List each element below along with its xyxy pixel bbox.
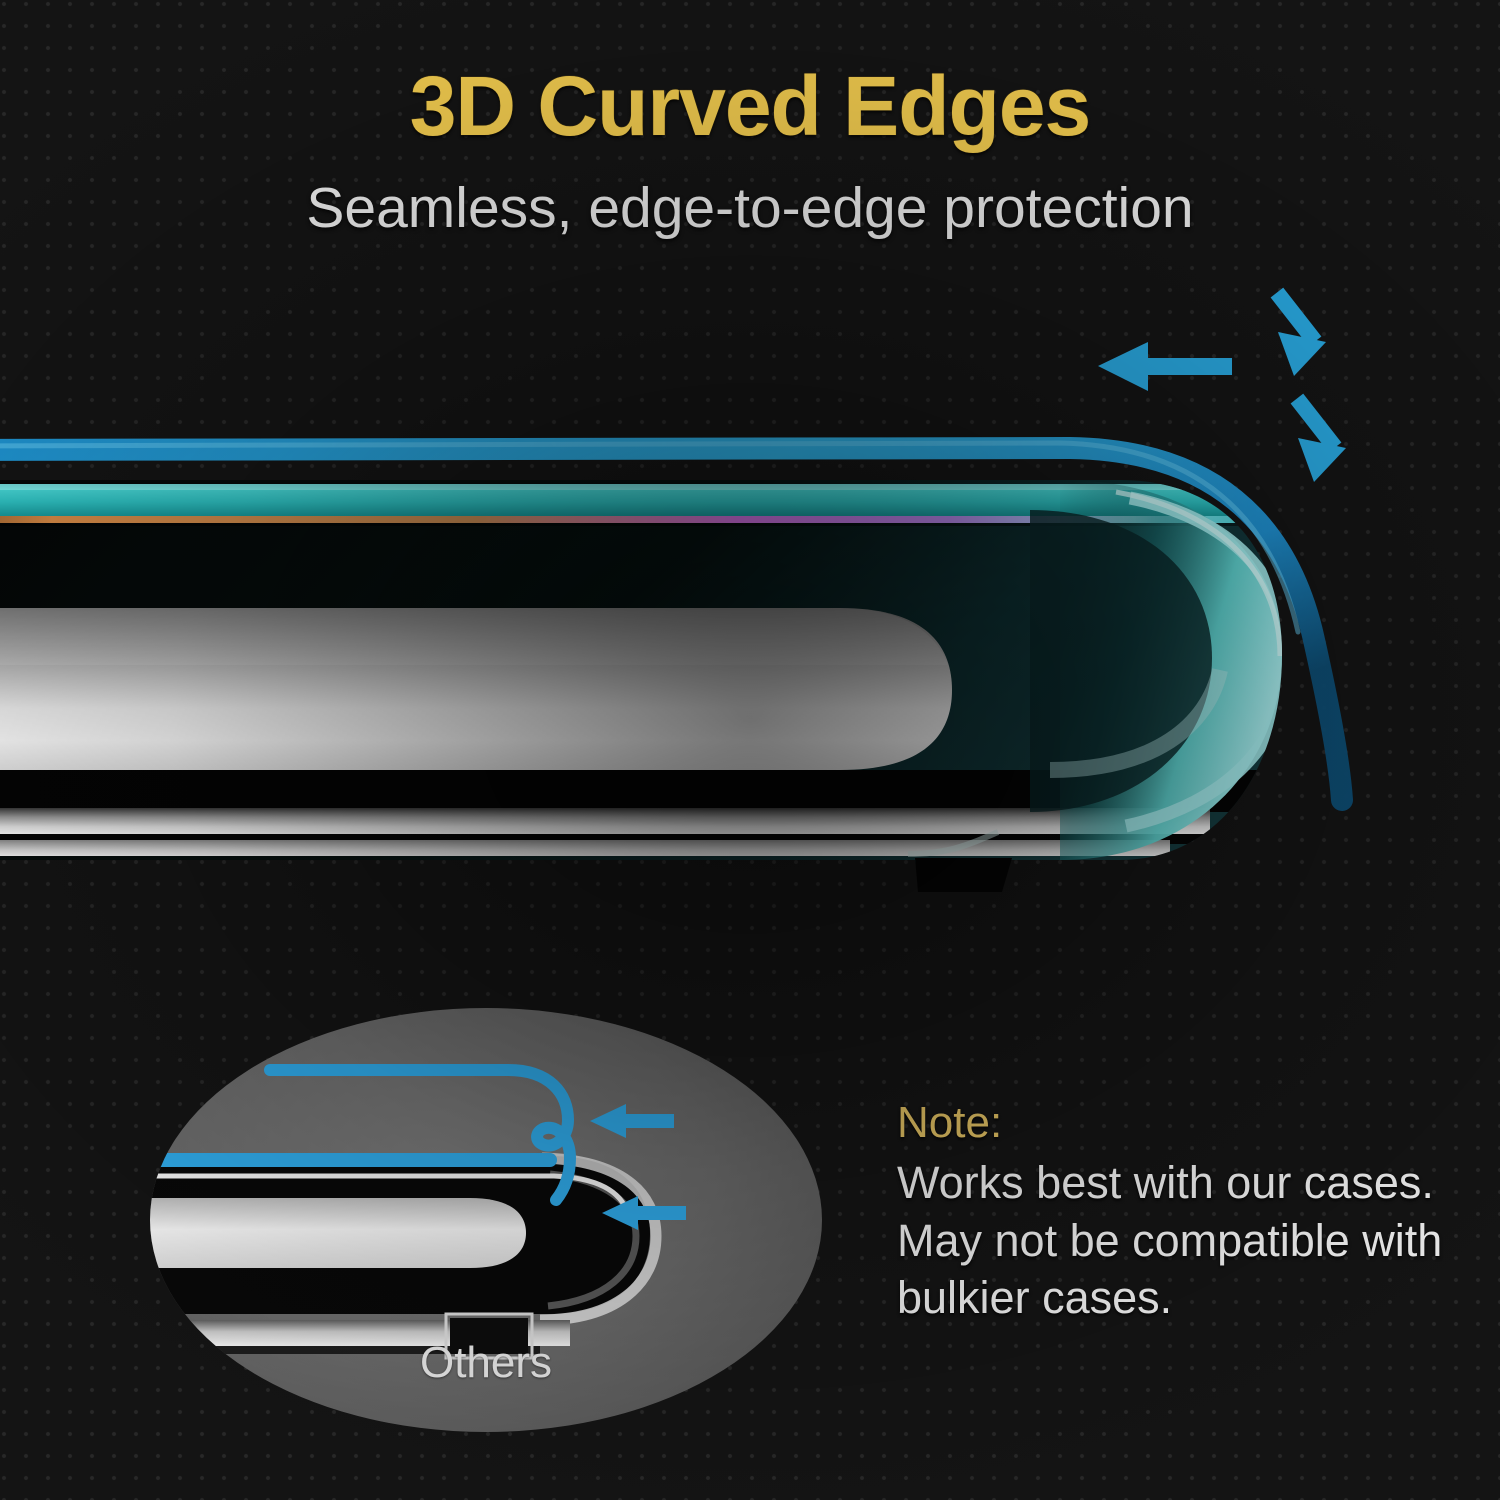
phone-body: [0, 480, 1320, 870]
direction-arrows-group: [1080, 280, 1480, 510]
page-subtitle: Seamless, edge-to-edge protection: [0, 175, 1500, 241]
arrow-down-right-upper-icon: [1271, 288, 1326, 376]
note-block: Note: Works best with our cases. May not…: [897, 1098, 1417, 1327]
note-line-1: Works best with our cases.: [897, 1154, 1417, 1212]
arrow-down-right-lower-icon: [1291, 394, 1346, 482]
note-line-3: bulkier cases.: [897, 1269, 1417, 1327]
note-line-2: May not be compatible with: [897, 1212, 1417, 1270]
note-heading: Note:: [897, 1098, 1417, 1148]
arrow-left-icon: [1098, 342, 1232, 391]
phone-cross-section-graphic: [0, 440, 1380, 940]
inset-label: Others: [150, 1338, 822, 1388]
product-feature-poster: 3D Curved Edges Seamless, edge-to-edge p…: [0, 0, 1500, 1500]
others-comparison-inset: Others: [150, 1008, 822, 1432]
page-title: 3D Curved Edges: [0, 58, 1500, 155]
phone-illustration: [0, 440, 1380, 940]
bottom-notch: [915, 858, 1012, 892]
